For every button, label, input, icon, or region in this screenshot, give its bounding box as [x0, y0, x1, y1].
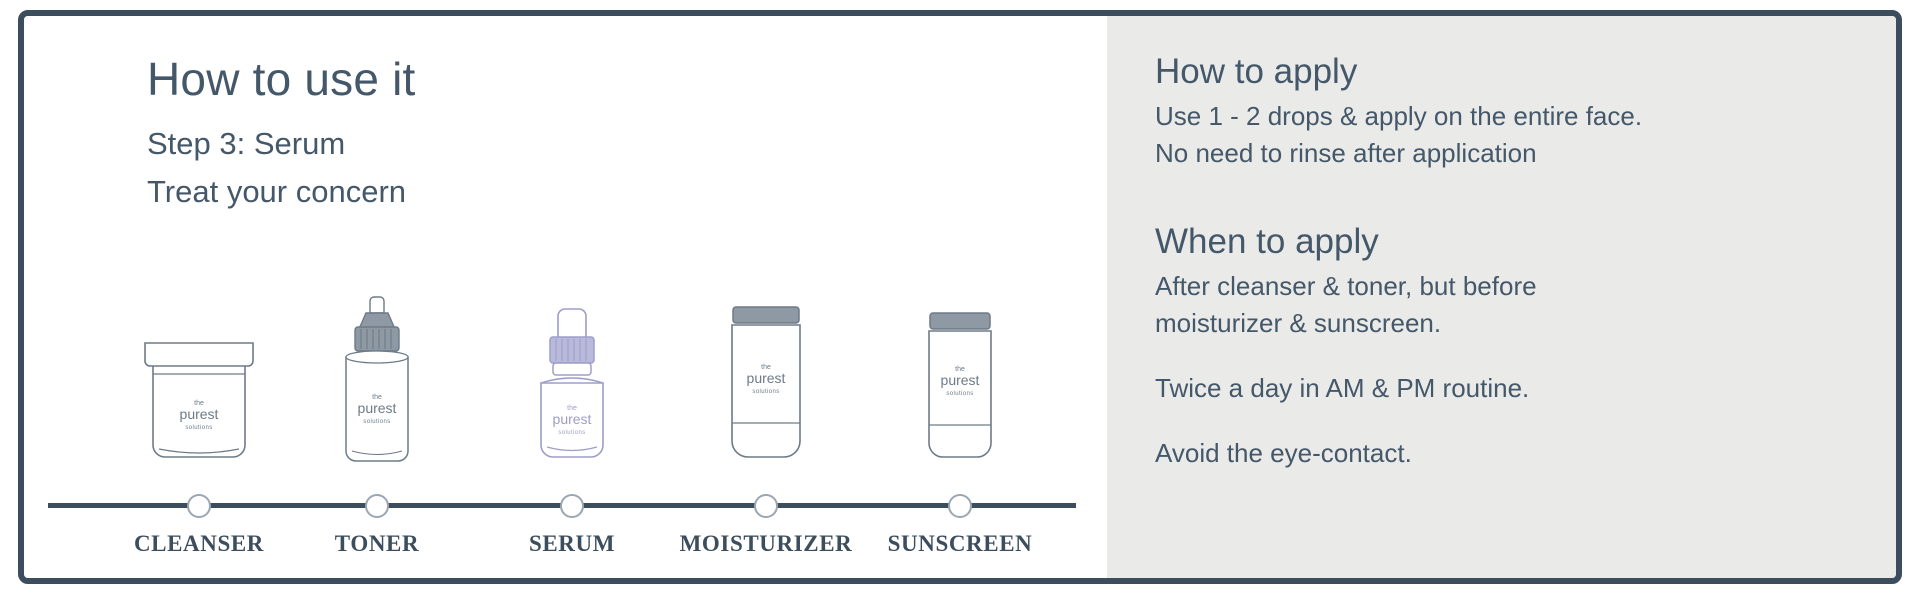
when-to-apply-line-3: Twice a day in AM & PM routine. [1155, 370, 1896, 407]
timeline-node-serum[interactable] [560, 494, 584, 518]
how-to-apply-heading: How to apply [1155, 52, 1896, 92]
svg-text:solutions: solutions [558, 430, 585, 436]
svg-text:solutions: solutions [946, 391, 973, 397]
when-to-apply-line-1: After cleanser & toner, but before [1155, 268, 1896, 305]
step-subtitle: Step 3: Serum [147, 126, 345, 162]
svg-text:solutions: solutions [752, 389, 779, 395]
product-illustration-sunscreen: the purest solutions [905, 309, 1015, 470]
right-panel: How to apply Use 1 - 2 drops & apply on … [1107, 16, 1896, 578]
svg-text:purest: purest [553, 411, 592, 427]
instruction-card: How to use it Step 3: Serum Treat your c… [18, 10, 1902, 584]
step-label-moisturizer: MOISTURIZER [680, 531, 853, 557]
timeline-node-moisturizer[interactable] [754, 494, 778, 518]
when-to-apply-line-2: moisturizer & sunscreen. [1155, 305, 1896, 342]
step-label-toner: TONER [335, 531, 419, 557]
svg-text:purest: purest [747, 370, 786, 386]
how-to-apply-section: How to apply Use 1 - 2 drops & apply on … [1155, 52, 1896, 172]
when-to-apply-heading: When to apply [1155, 222, 1896, 262]
svg-text:purest: purest [941, 372, 980, 388]
how-to-apply-line-1: Use 1 - 2 drops & apply on the entire fa… [1155, 98, 1896, 135]
step-label-sunscreen: SUNSCREEN [888, 531, 1033, 557]
timeline-node-toner[interactable] [365, 494, 389, 518]
page-title: How to use it [147, 52, 416, 106]
product-illustration-serum: the purest solutions [517, 307, 627, 470]
how-to-apply-line-2: No need to rinse after application [1155, 135, 1896, 172]
when-to-apply-line-4: Avoid the eye-contact. [1155, 435, 1896, 472]
when-to-apply-section: When to apply After cleanser & toner, bu… [1155, 222, 1896, 472]
svg-text:purest: purest [358, 400, 397, 416]
step-tagline: Treat your concern [147, 174, 406, 210]
left-panel: How to use it Step 3: Serum Treat your c… [24, 16, 1107, 578]
product-illustration-toner: the purest solutions [322, 295, 432, 470]
product-illustration-moisturizer: the purest solutions [706, 303, 826, 470]
svg-text:purest: purest [180, 406, 219, 422]
timeline-node-sunscreen[interactable] [948, 494, 972, 518]
svg-text:solutions: solutions [185, 425, 212, 431]
step-label-serum: SERUM [529, 531, 615, 557]
svg-text:solutions: solutions [363, 419, 390, 425]
timeline-node-cleanser[interactable] [187, 494, 211, 518]
product-illustration-cleanser: the purest solutions [131, 337, 267, 470]
step-label-cleanser: CLEANSER [134, 531, 264, 557]
